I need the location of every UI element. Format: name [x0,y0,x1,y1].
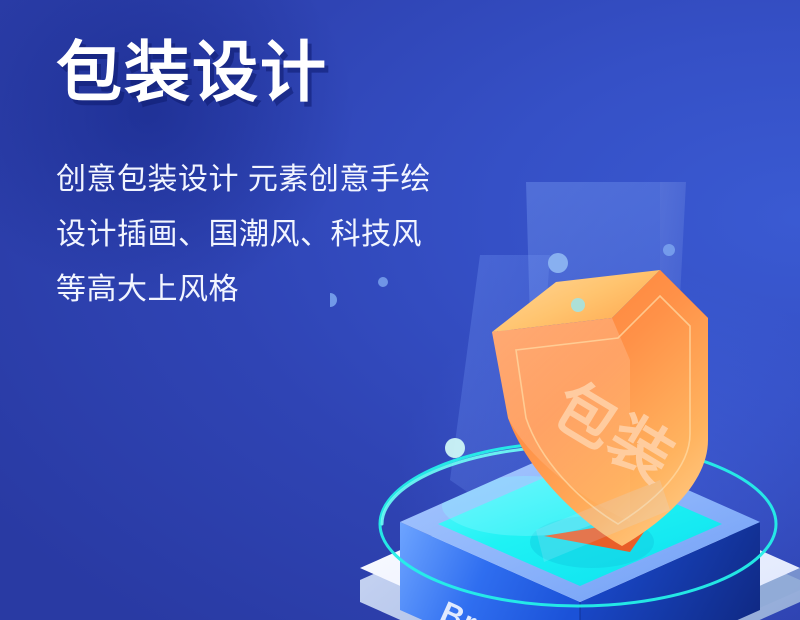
page-title: 包装设计 [56,38,526,108]
banner-canvas: 包装设计 创意包装设计 元素创意手绘 设计插画、国潮风、科技风 等高大上风格 [0,0,800,620]
illustration-3d-shield-podium: Brand [330,150,800,620]
shield-accent-dot-icon [571,298,585,312]
